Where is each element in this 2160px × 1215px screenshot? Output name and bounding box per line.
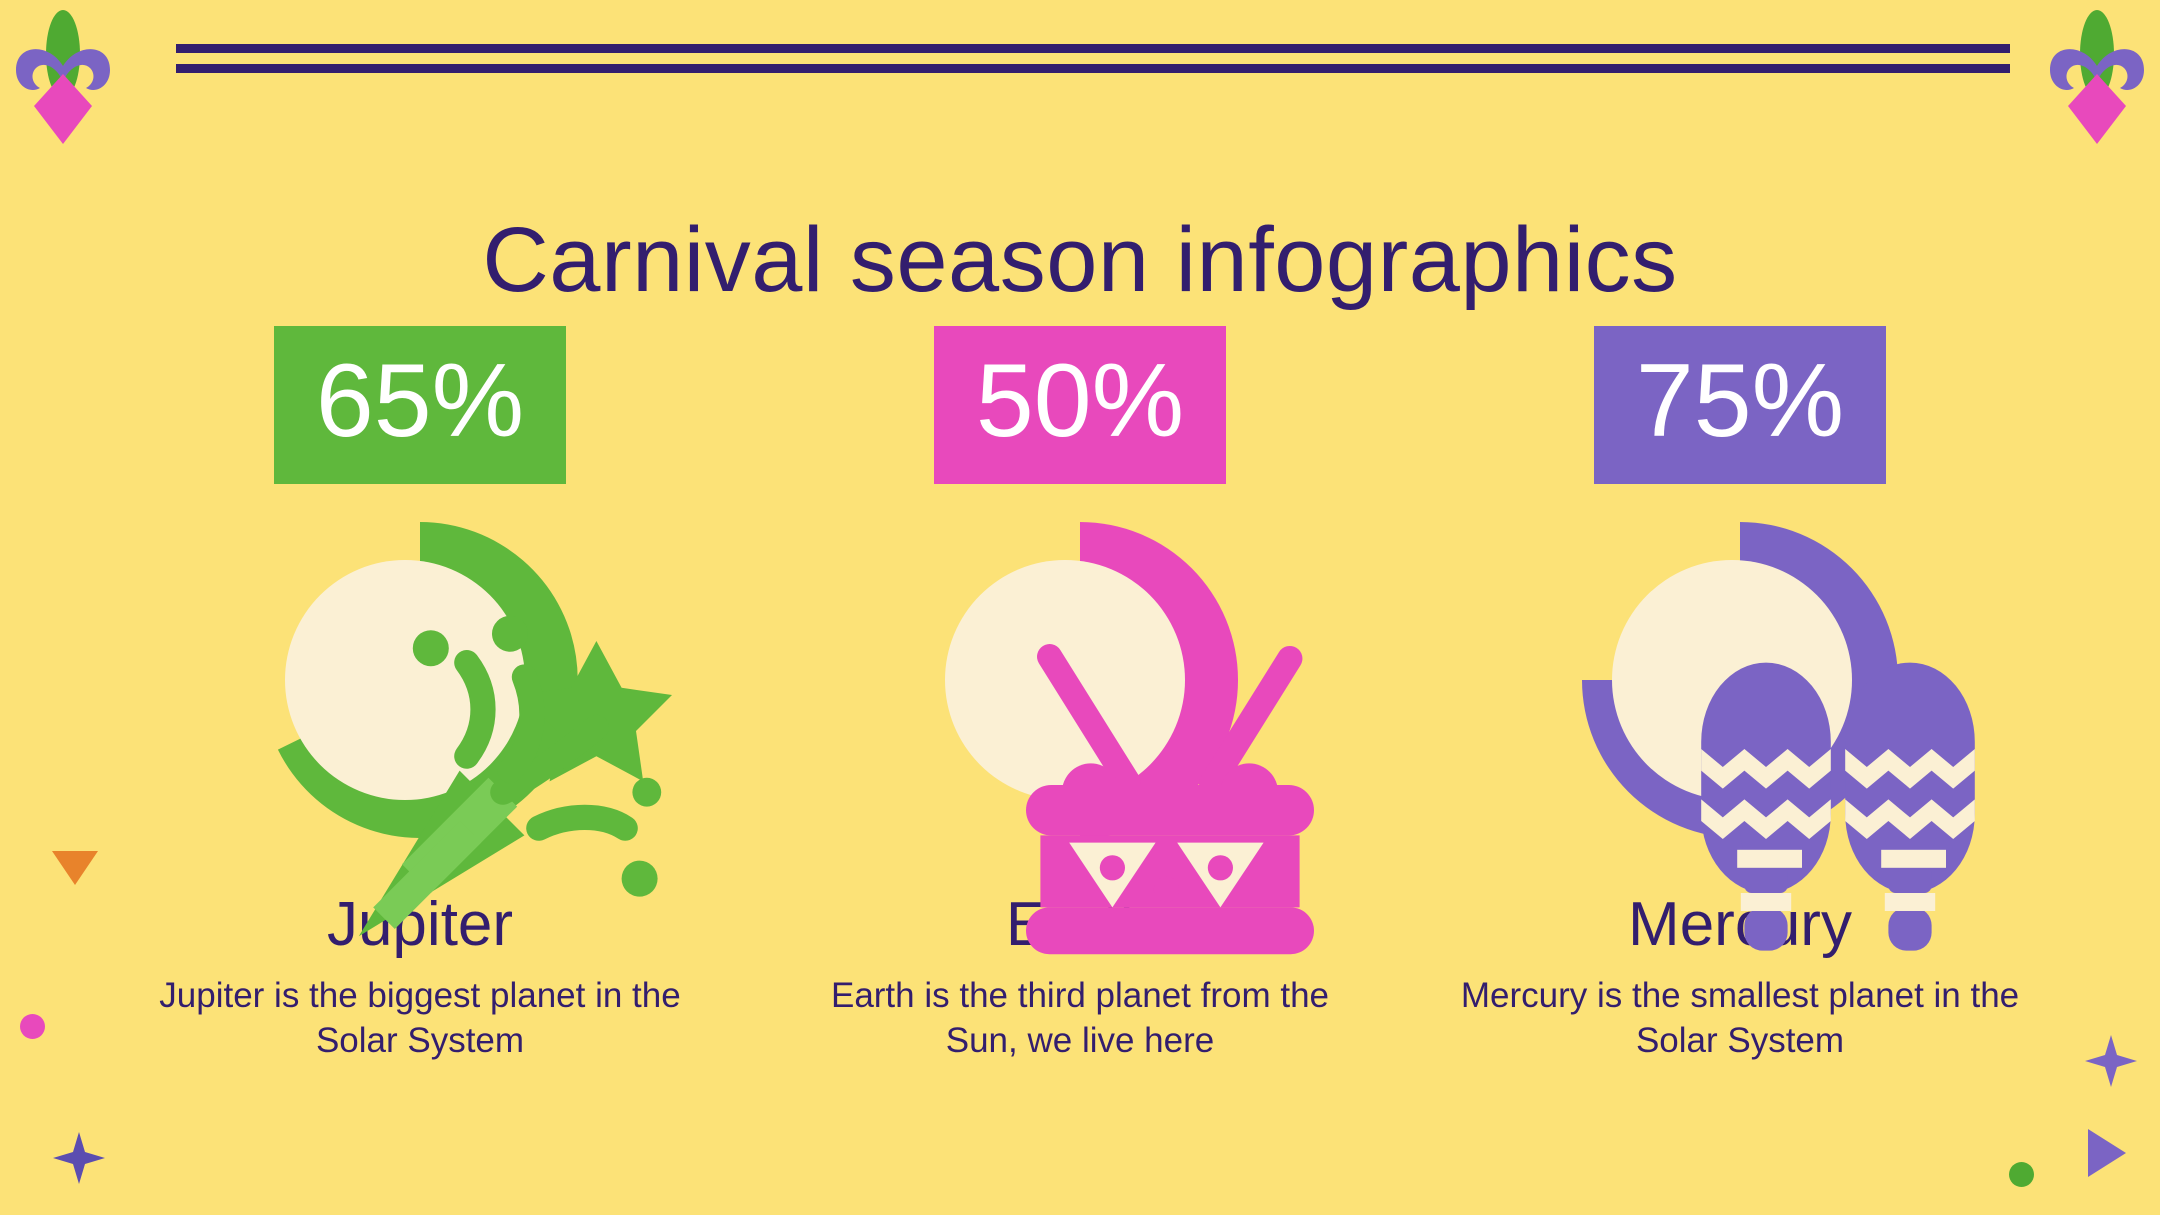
star-purple-left-icon	[53, 1132, 105, 1184]
percent-label: 75%	[1636, 349, 1844, 453]
page-title: Carnival season infographics	[0, 212, 2160, 309]
info-card-earth: 50%	[750, 326, 1410, 1064]
infographic-cards: 65%	[0, 326, 2160, 1064]
slide-canvas: Carnival season infographics 65%	[0, 0, 2160, 1215]
donut-chart-jupiter	[240, 500, 600, 860]
triangle-down-icon	[52, 851, 98, 885]
donut-chart-mercury	[1560, 500, 1920, 860]
header-divider-line-bottom	[176, 64, 2010, 73]
card-description-earth: Earth is the third planet from the Sun, …	[800, 974, 1360, 1064]
percent-label: 65%	[316, 349, 524, 453]
dot-pink-icon	[20, 1014, 45, 1039]
card-description-jupiter: Jupiter is the biggest planet in the Sol…	[140, 974, 700, 1064]
triangle-right-icon	[2088, 1129, 2126, 1177]
info-card-jupiter: 65%	[90, 326, 750, 1064]
percent-badge-mercury: 75%	[1594, 326, 1886, 484]
percent-label: 50%	[976, 349, 1184, 453]
drum-icon	[990, 605, 1350, 965]
dot-green-icon	[2009, 1162, 2034, 1187]
donut-chart-earth	[900, 500, 1260, 860]
percent-badge-earth: 50%	[934, 326, 1226, 484]
header-divider	[176, 44, 2010, 73]
card-description-mercury: Mercury is the smallest planet in the So…	[1460, 974, 2020, 1064]
info-card-mercury: 75%	[1410, 326, 2070, 1064]
maracas-icon	[1658, 605, 2018, 965]
percent-badge-jupiter: 65%	[274, 326, 566, 484]
header-divider-line-top	[176, 44, 2010, 53]
party-popper-icon	[330, 605, 690, 965]
fleur-de-lis-icon	[2042, 8, 2152, 168]
star-purple-right-icon	[2085, 1035, 2137, 1087]
fleur-de-lis-icon	[8, 8, 118, 168]
